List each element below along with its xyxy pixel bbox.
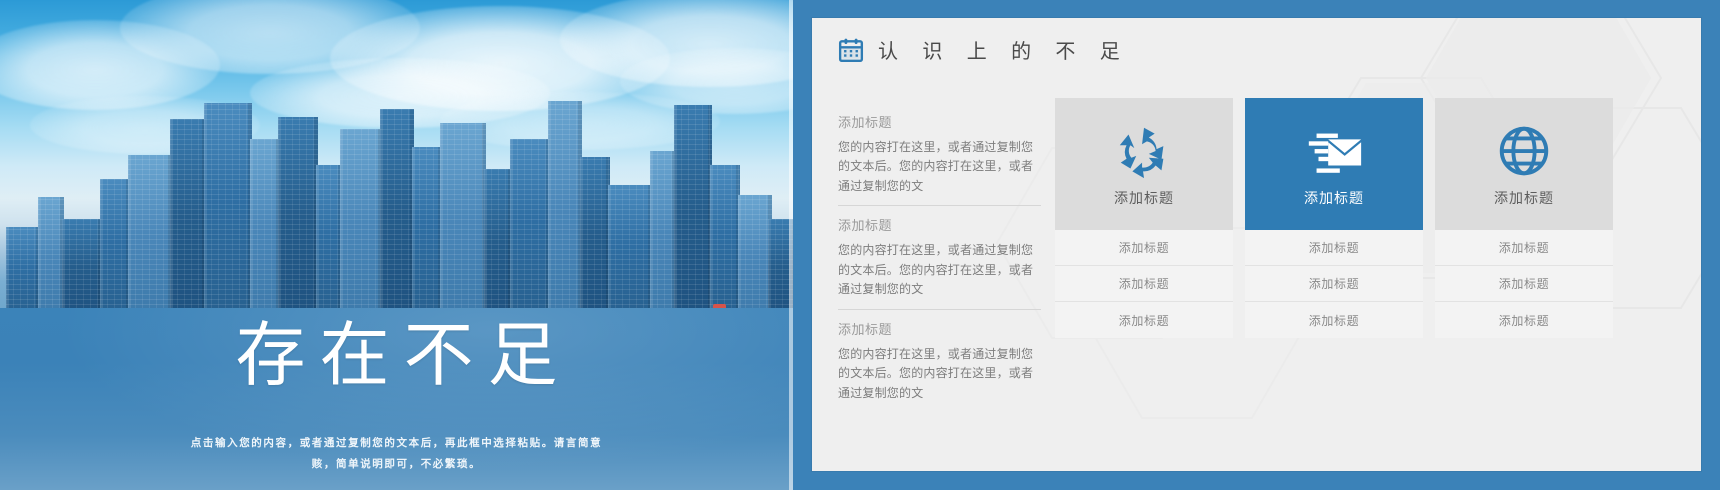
right-panel: 认 识 上 的 不 足 添加标题 您的内容打在这里，或者通过复制您的文本后。您的… [793,0,1720,490]
text-block: 添加标题 您的内容打在这里，或者通过复制您的文本后。您的内容打在这里，或者通过复… [838,112,1041,196]
text-block-heading: 添加标题 [838,215,1041,234]
text-block-heading: 添加标题 [838,112,1041,131]
list-item[interactable]: 添加标题 [1245,266,1423,302]
card-globe[interactable]: 添加标题 添加标题 添加标题 添加标题 [1435,98,1613,471]
card-list: 添加标题 添加标题 添加标题 [1055,230,1233,338]
divider [838,309,1041,310]
slide: 存在不足 点击输入您的内容，或者通过复制您的文本后，再此框中选择粘贴。请言简意赅… [0,0,1720,490]
list-item[interactable]: 添加标题 [1055,266,1233,302]
card-group: 添加标题 添加标题 添加标题 添加标题 [1055,88,1613,471]
list-item[interactable]: 添加标题 [1245,302,1423,338]
content-body: 添加标题 您的内容打在这里，或者通过复制您的文本后。您的内容打在这里，或者通过复… [812,88,1701,471]
card-recycle[interactable]: 添加标题 添加标题 添加标题 添加标题 [1055,98,1233,471]
calendar-icon [838,37,864,63]
page-title: 存在不足 [0,320,793,390]
content-canvas: 认 识 上 的 不 足 添加标题 您的内容打在这里，或者通过复制您的文本后。您的… [812,18,1701,471]
recycle-icon [1113,120,1175,182]
card-title: 添加标题 [1114,188,1174,208]
header: 认 识 上 的 不 足 [838,35,1129,64]
list-item[interactable]: 添加标题 [1055,302,1233,338]
globe-icon [1493,120,1555,182]
list-item[interactable]: 添加标题 [1435,230,1613,266]
card-header[interactable]: 添加标题 [1055,98,1233,230]
divider [838,205,1041,206]
card-list: 添加标题 添加标题 添加标题 [1435,230,1613,338]
left-panel: 存在不足 点击输入您的内容，或者通过复制您的文本后，再此框中选择粘贴。请言简意赅… [0,0,793,490]
list-item[interactable]: 添加标题 [1055,230,1233,266]
list-item[interactable]: 添加标题 [1435,302,1613,338]
city-skyline [0,65,793,315]
card-title: 添加标题 [1494,188,1554,208]
text-block-heading: 添加标题 [838,319,1041,338]
card-list: 添加标题 添加标题 添加标题 [1245,230,1423,338]
text-block-body: 您的内容打在这里，或者通过复制您的文本后。您的内容打在这里，或者通过复制您的文 [838,345,1041,403]
send-mail-icon [1303,120,1365,182]
page-caption: 点击输入您的内容，或者通过复制您的文本后，再此框中选择粘贴。请言简意赅，简单说明… [0,433,793,474]
text-block-body: 您的内容打在这里，或者通过复制您的文本后。您的内容打在这里，或者通过复制您的文 [838,241,1041,299]
list-item[interactable]: 添加标题 [1245,230,1423,266]
list-item[interactable]: 添加标题 [1435,266,1613,302]
text-column: 添加标题 您的内容打在这里，或者通过复制您的文本后。您的内容打在这里，或者通过复… [838,88,1041,471]
title-band: 存在不足 点击输入您的内容，或者通过复制您的文本后，再此框中选择粘贴。请言简意赅… [0,308,793,490]
card-header[interactable]: 添加标题 [1435,98,1613,230]
text-block: 添加标题 您的内容打在这里，或者通过复制您的文本后。您的内容打在这里，或者通过复… [838,319,1041,403]
section-title: 认 识 上 的 不 足 [878,35,1129,64]
card-title: 添加标题 [1304,188,1364,208]
text-block: 添加标题 您的内容打在这里，或者通过复制您的文本后。您的内容打在这里，或者通过复… [838,215,1041,299]
text-block-body: 您的内容打在这里，或者通过复制您的文本后。您的内容打在这里，或者通过复制您的文 [838,138,1041,196]
card-send-mail[interactable]: 添加标题 添加标题 添加标题 添加标题 [1245,98,1423,471]
card-header[interactable]: 添加标题 [1245,98,1423,230]
